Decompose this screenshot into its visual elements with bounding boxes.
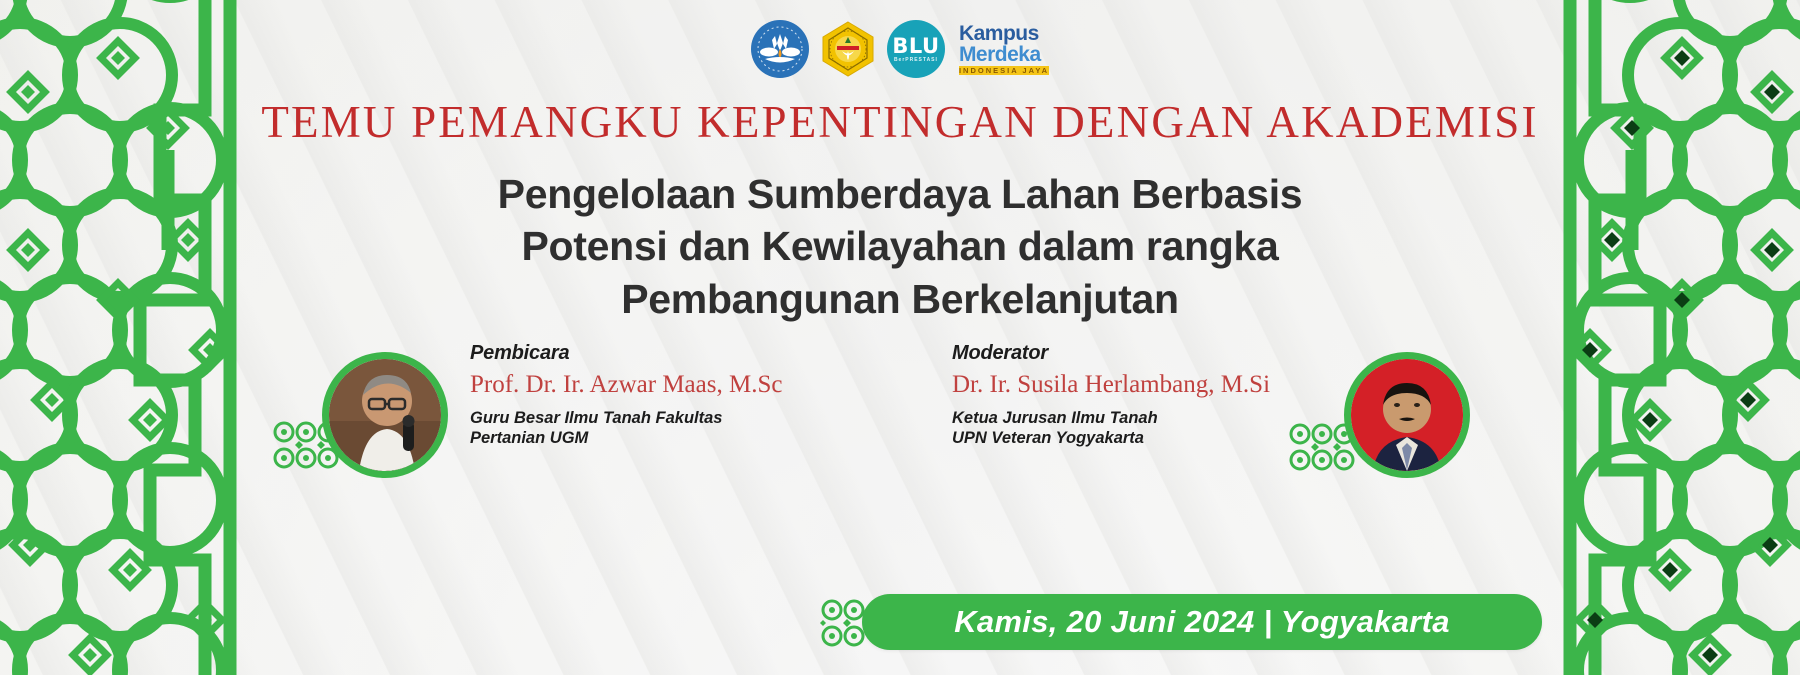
subtitle-line-2: Potensi dan Kewilayahan dalam rangka	[0, 220, 1800, 272]
speaker-affiliation-line-1: Guru Besar Ilmu Tanah Fakultas	[470, 408, 782, 428]
event-banner: BLU BerPRESTASI Kampus Merdeka INDONESIA…	[0, 0, 1800, 675]
kampus-merdeka-tagline: INDONESIA JAYA	[959, 66, 1049, 76]
speaker-photo	[322, 352, 448, 478]
moderator-photo	[1344, 352, 1470, 478]
blu-logo: BLU BerPRESTASI	[887, 20, 945, 78]
subtitle-line-1: Pengelolaan Sumberdaya Lahan Berbasis	[0, 168, 1800, 220]
moderator-role-label: Moderator	[952, 342, 1270, 365]
page-title: TEMU PEMANGKU KEPENTINGAN DENGAN AKADEMI…	[0, 96, 1800, 148]
moderator-affiliation: Ketua Jurusan Ilmu Tanah UPN Veteran Yog…	[952, 408, 1270, 448]
blu-logo-subtext: BerPRESTASI	[892, 57, 939, 63]
speaker-affiliation-line-2: Pertanian UGM	[470, 428, 782, 448]
tut-wuri-handayani-logo	[751, 20, 809, 78]
moderator-name: Dr. Ir. Susila Herlambang, M.Si	[952, 371, 1270, 399]
moderator-text: Moderator Dr. Ir. Susila Herlambang, M.S…	[952, 342, 1270, 448]
moderator-affiliation-line-1: Ketua Jurusan Ilmu Tanah	[952, 408, 1270, 428]
blu-logo-text: BLU	[892, 36, 939, 57]
speaker-photo-wrap	[322, 352, 448, 478]
kampus-merdeka-line2: Merdeka	[959, 44, 1049, 65]
speaker-text: Pembicara Prof. Dr. Ir. Azwar Maas, M.Sc…	[470, 342, 782, 448]
event-subtitle: Pengelolaan Sumberdaya Lahan Berbasis Po…	[0, 168, 1800, 325]
date-location-banner: Kamis, 20 Juni 2024 | Yogyakarta	[862, 594, 1542, 650]
subtitle-line-3: Pembangunan Berkelanjutan	[0, 273, 1800, 325]
upn-veteran-logo	[819, 20, 877, 78]
kampus-merdeka-logo: Kampus Merdeka INDONESIA JAYA	[959, 23, 1049, 76]
kampus-merdeka-line1: Kampus	[959, 23, 1049, 44]
speaker-name: Prof. Dr. Ir. Azwar Maas, M.Sc	[470, 371, 782, 399]
moderator-photo-wrap	[1344, 352, 1470, 478]
logo-row: BLU BerPRESTASI Kampus Merdeka INDONESIA…	[0, 18, 1800, 80]
speaker-affiliation: Guru Besar Ilmu Tanah Fakultas Pertanian…	[470, 408, 782, 448]
speaker-role-label: Pembicara	[470, 342, 782, 365]
moderator-affiliation-line-2: UPN Veteran Yogyakarta	[952, 428, 1270, 448]
